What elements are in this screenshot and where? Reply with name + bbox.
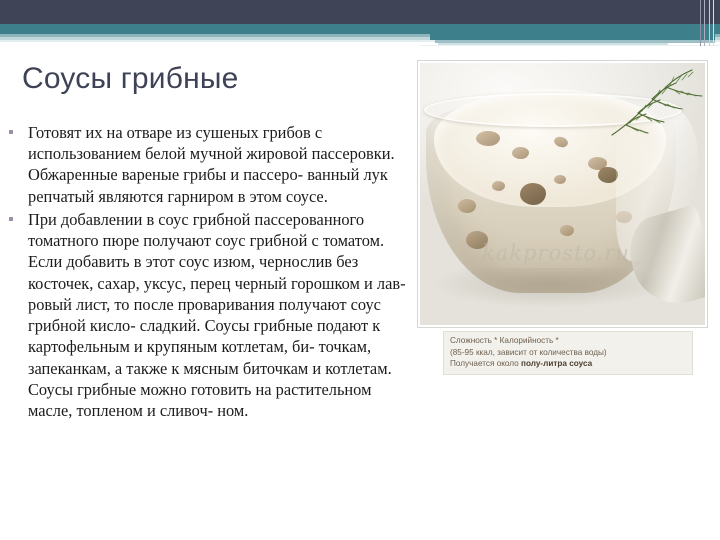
header-band-navy	[0, 0, 720, 24]
corner-hairline-3	[709, 0, 710, 46]
photo-caption-box: Сложность * Калорийность * (85-95 ккал, …	[443, 331, 693, 375]
bowl-drop-shadow	[430, 268, 670, 308]
caption-line-calories: (85-95 ккал, зависит от количества воды)	[450, 347, 686, 359]
caption-yield-value: полу-литра соуса	[521, 359, 592, 368]
caption-yield-prefix: Получается около	[450, 359, 521, 368]
accent-rule-quaternary	[420, 45, 720, 46]
photo-frame: kakprosto.ru	[417, 60, 708, 328]
mushroom-piece-icon	[560, 225, 574, 236]
slide-body: Готовят их на отваре из сушеных грибов с…	[0, 122, 415, 423]
bullet-square-icon	[9, 217, 13, 221]
mushroom-piece-icon	[520, 183, 546, 205]
mushroom-piece-icon	[512, 147, 529, 159]
slide-canvas: Соусы грибные Готовят их на отваре из су…	[0, 0, 720, 540]
corner-hairline-2	[704, 0, 705, 46]
mushroom-piece-icon	[476, 131, 500, 146]
bullet-text: При добавлении в соус грибной пассерован…	[28, 210, 406, 420]
list-item: При добавлении в соус грибной пассерован…	[0, 209, 415, 421]
slide-title: Соусы грибные	[22, 62, 402, 95]
corner-hairline-4	[713, 0, 714, 46]
bullet-square-icon	[9, 130, 13, 134]
sauce-photo: kakprosto.ru	[420, 63, 705, 325]
mushroom-piece-icon	[553, 135, 569, 149]
mushroom-piece-icon	[492, 181, 505, 191]
corner-hairline-1	[700, 0, 701, 46]
list-item: Готовят их на отваре из сушеных грибов с…	[0, 122, 415, 207]
caption-line-yield: Получается около полу-литра соуса	[450, 358, 686, 370]
bullet-text: Готовят их на отваре из сушеных грибов с…	[28, 123, 395, 206]
caption-line-difficulty: Сложность * Калорийность *	[450, 335, 686, 347]
dill-sprig-icon	[596, 65, 705, 139]
mushroom-piece-icon	[554, 175, 566, 184]
photo-watermark: kakprosto.ru	[436, 241, 676, 265]
header-band-teal	[0, 24, 720, 34]
bullet-list: Готовят их на отваре из сушеных грибов с…	[0, 122, 415, 421]
mushroom-piece-icon	[458, 199, 476, 213]
mushroom-piece-icon	[598, 167, 618, 183]
